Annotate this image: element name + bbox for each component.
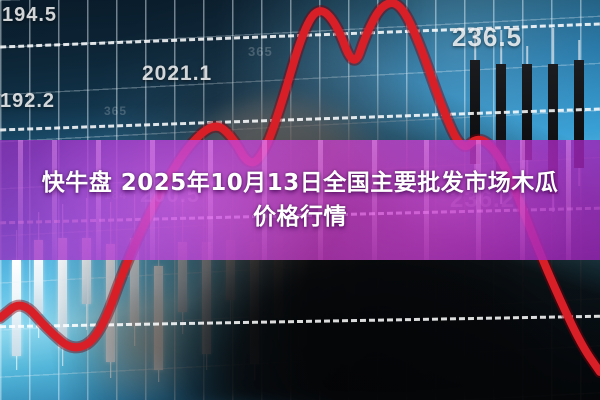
thumbnail-image: 194.5192.22021.1236.5200.5236.2184365365…: [0, 0, 600, 400]
headline-line-2: 价格行情: [253, 203, 347, 231]
headline-block: 快牛盘 2025年10月13日全国主要批发市场木瓜 价格行情: [0, 140, 600, 260]
headline-line-1: 快牛盘 2025年10月13日全国主要批发市场木瓜: [42, 169, 559, 197]
